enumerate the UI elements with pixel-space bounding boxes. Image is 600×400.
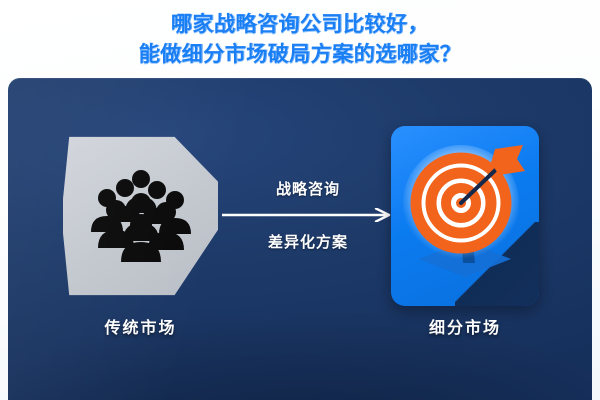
page-title-line-1: 哪家战略咨询公司比较好，	[171, 11, 429, 37]
flow-label-below: 差异化方案	[268, 231, 348, 252]
traditional-market-caption: 传统市场	[63, 314, 218, 338]
infographic-canvas: 哪家战略咨询公司比较好， 能做细分市场破局方案的选哪家？	[0, 0, 600, 400]
segmented-market-card	[391, 126, 539, 306]
page-title-line-2: 能做细分市场破局方案的选哪家？	[139, 41, 462, 67]
card-corner-fold	[455, 222, 539, 306]
flow-label-above: 战略咨询	[276, 178, 340, 199]
traditional-market-icon-wrap	[63, 130, 218, 302]
diagram-panel: 传统市场 战略咨询 差异化方案	[8, 78, 592, 400]
crowd-of-people-icon	[85, 170, 197, 262]
arrow-right-icon	[222, 208, 394, 222]
header: 哪家战略咨询公司比较好， 能做细分市场破局方案的选哪家？	[0, 0, 600, 78]
flow-connector: 战略咨询 差异化方案	[213, 160, 403, 270]
segmented-market-caption: 细分市场	[391, 314, 539, 338]
